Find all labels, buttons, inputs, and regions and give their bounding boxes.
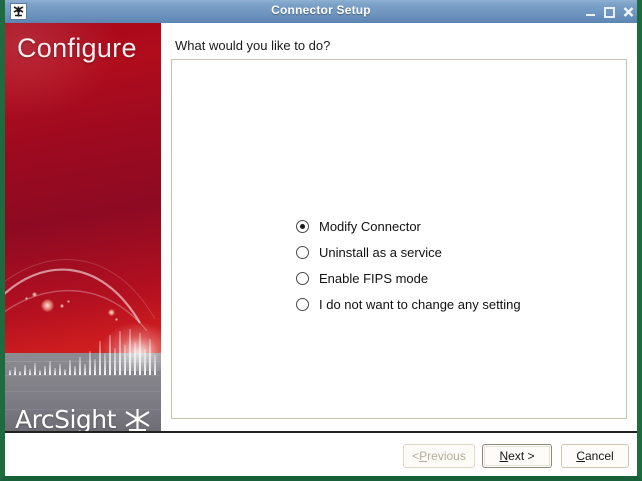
cancel-button-suffix: ancel	[585, 449, 614, 463]
radio-option-label: Modify Connector	[319, 219, 421, 234]
glow-dot	[32, 292, 37, 297]
next-button[interactable]: Next >	[482, 444, 552, 468]
glow-dot	[41, 299, 54, 312]
branding-sidebar: Configure ArcSight An HP Company	[5, 23, 161, 431]
window-inner-frame: Connector Setup	[5, 0, 637, 474]
next-button-suffix: ext >	[508, 449, 534, 463]
radio-option-label: Enable FIPS mode	[319, 271, 428, 286]
next-button-mnemonic: N	[499, 449, 508, 463]
page-title: What would you like to do?	[175, 38, 330, 53]
arcsight-logo-mark	[123, 408, 153, 431]
glow-dot	[67, 300, 70, 303]
cancel-button[interactable]: Cancel	[561, 444, 629, 468]
minimize-icon[interactable]	[583, 5, 598, 19]
radio-option-modify-connector[interactable]: Modify Connector	[296, 213, 521, 239]
options-panel: Modify Connector Uninstall as a service …	[171, 59, 627, 419]
arcsight-logo: ArcSight An HP Company	[15, 407, 161, 431]
previous-button[interactable]: < Previous	[403, 444, 475, 468]
previous-button-mnemonic: P	[419, 449, 427, 463]
glow-dot	[25, 297, 28, 300]
title-bar[interactable]: Connector Setup	[5, 0, 637, 24]
radio-button-icon[interactable]	[296, 272, 309, 285]
radio-option-enable-fips[interactable]: Enable FIPS mode	[296, 265, 521, 291]
sidebar-heading: Configure	[17, 33, 137, 64]
radio-option-uninstall-service[interactable]: Uninstall as a service	[296, 239, 521, 265]
window-title: Connector Setup	[5, 3, 637, 17]
glow-dot	[60, 304, 64, 308]
close-icon[interactable]	[621, 5, 636, 19]
radio-button-icon[interactable]	[296, 220, 309, 233]
maximize-icon[interactable]	[602, 5, 617, 19]
audio-waveform-decoration	[5, 319, 161, 375]
radio-option-label: Uninstall as a service	[319, 245, 442, 260]
radio-button-icon[interactable]	[296, 298, 309, 311]
options-radio-group: Modify Connector Uninstall as a service …	[296, 213, 521, 317]
radio-option-label: I do not want to change any setting	[319, 297, 521, 312]
radio-button-icon[interactable]	[296, 246, 309, 259]
radio-option-no-change[interactable]: I do not want to change any setting	[296, 291, 521, 317]
cancel-button-mnemonic: C	[576, 449, 585, 463]
glow-dot	[108, 309, 115, 316]
previous-button-prefix: <	[412, 449, 419, 463]
sidebar-swoosh-decoration	[5, 23, 161, 353]
application-window: Connector Setup	[0, 0, 642, 481]
main-content: What would you like to do? Modify Connec…	[161, 23, 637, 431]
dialog-button-bar: < Previous Next > Cancel	[5, 431, 637, 476]
previous-button-suffix: revious	[427, 449, 466, 463]
